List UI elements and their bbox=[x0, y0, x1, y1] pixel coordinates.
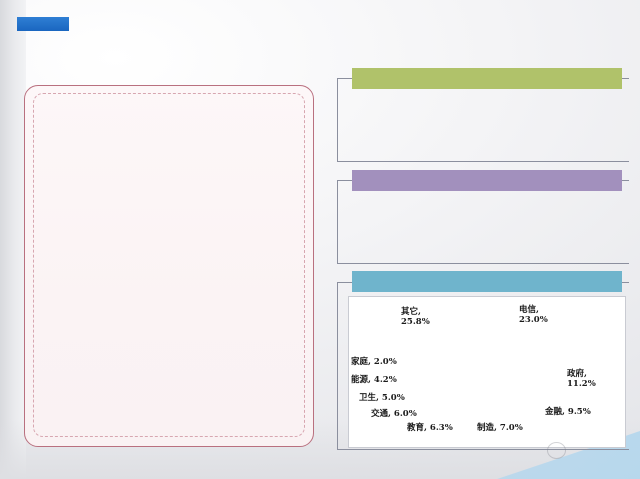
key-sectors-panel bbox=[24, 85, 314, 447]
pie-slice-label: 教育, 6.3% bbox=[407, 423, 453, 433]
pie-slice-label: 政府,11.2% bbox=[567, 369, 596, 389]
pie-slice-label: 卫生, 5.0% bbox=[359, 393, 405, 403]
slide-canvas: 电信,23.0%政府,11.2%金融, 9.5%制造, 7.0%教育, 6.3%… bbox=[0, 0, 640, 479]
wechat-icon bbox=[547, 442, 566, 459]
pie-slice-label: 其它,25.8% bbox=[401, 307, 430, 327]
pie-slice-label: 电信,23.0% bbox=[519, 305, 548, 325]
pie-slice-label: 家庭, 2.0% bbox=[351, 357, 397, 367]
personal-panel-heading bbox=[352, 170, 622, 191]
key-sectors-panel-inner-border bbox=[33, 93, 305, 437]
pie-slice-label: 能源, 4.2% bbox=[351, 375, 397, 385]
chart-panel-heading bbox=[352, 271, 622, 292]
pie-slice-label: 制造, 7.0% bbox=[477, 423, 523, 433]
pie-slice-label: 金融, 9.5% bbox=[545, 407, 591, 417]
brand-logo-mark bbox=[17, 17, 69, 31]
pie-slice-label: 交通, 6.0% bbox=[371, 409, 417, 419]
industry-panel-bracket bbox=[337, 78, 629, 162]
industry-panel-heading bbox=[352, 68, 622, 89]
investment-pie-chart: 电信,23.0%政府,11.2%金融, 9.5%制造, 7.0%教育, 6.3%… bbox=[348, 296, 626, 448]
personal-panel-bracket bbox=[337, 180, 629, 264]
left-shade-decoration bbox=[0, 0, 26, 479]
